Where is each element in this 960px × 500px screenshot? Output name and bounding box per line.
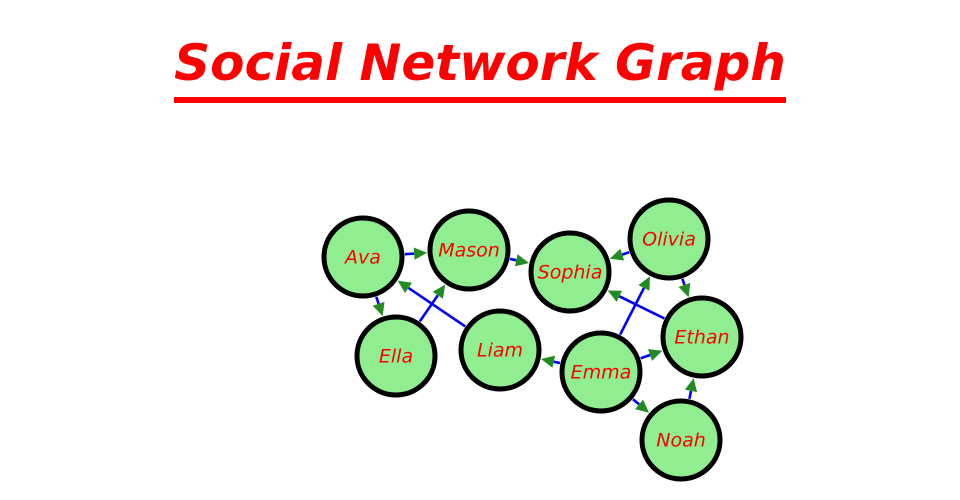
node-label: Ethan xyxy=(674,327,729,349)
graph-node-mason[interactable]: Mason xyxy=(430,211,508,289)
nodes-layer: AvaMasonSophiaOliviaEthanEllaLiamEmmaNoa… xyxy=(324,200,741,479)
graph-edge-ethan-to-sophia xyxy=(619,296,664,318)
graph-node-ethan[interactable]: Ethan xyxy=(663,298,741,376)
graph-edge-emma-to-ethan xyxy=(641,355,650,358)
arrowhead-icon xyxy=(541,356,555,368)
graph-edge-olivia-to-ethan xyxy=(682,279,684,285)
arrowhead-icon xyxy=(648,349,662,361)
arrowhead-icon xyxy=(679,283,691,297)
graph-edge-ava-to-ella xyxy=(376,297,378,304)
graph-node-liam[interactable]: Liam xyxy=(461,311,539,389)
arrowhead-icon xyxy=(515,254,529,266)
node-label: Olivia xyxy=(642,229,696,251)
node-label: Noah xyxy=(656,430,706,452)
node-label: Ava xyxy=(343,247,381,269)
arrowhead-icon xyxy=(398,281,412,293)
social-network-graph: AvaMasonSophiaOliviaEthanEllaLiamEmmaNoa… xyxy=(0,0,960,500)
node-label: Emma xyxy=(571,362,632,384)
graph-edge-olivia-to-sophia xyxy=(622,252,629,254)
arrowhead-icon xyxy=(414,247,427,259)
node-label: Mason xyxy=(438,240,500,262)
graph-edge-emma-to-olivia xyxy=(620,288,644,335)
graph-node-ella[interactable]: Ella xyxy=(357,317,435,395)
arrowhead-icon xyxy=(685,378,697,392)
graph-node-sophia[interactable]: Sophia xyxy=(531,233,609,311)
graph-node-noah[interactable]: Noah xyxy=(642,401,720,479)
graph-node-emma[interactable]: Emma xyxy=(562,333,640,411)
node-label: Liam xyxy=(477,340,523,362)
graph-node-ava[interactable]: Ava xyxy=(324,218,402,296)
arrowhead-icon xyxy=(610,249,624,261)
arrowhead-icon xyxy=(433,285,445,299)
node-label: Ella xyxy=(379,346,413,368)
graph-edge-noah-to-ethan xyxy=(689,391,691,399)
node-label: Sophia xyxy=(538,262,603,284)
graph-edge-ava-to-mason xyxy=(405,254,414,255)
graph-edge-emma-to-noah xyxy=(633,399,639,404)
arrowhead-icon xyxy=(373,302,385,316)
graph-edge-mason-to-sophia xyxy=(510,259,516,260)
graph-edge-ella-to-mason xyxy=(420,295,438,321)
graph-edge-emma-to-liam xyxy=(554,362,560,363)
graph-node-olivia[interactable]: Olivia xyxy=(630,200,708,278)
